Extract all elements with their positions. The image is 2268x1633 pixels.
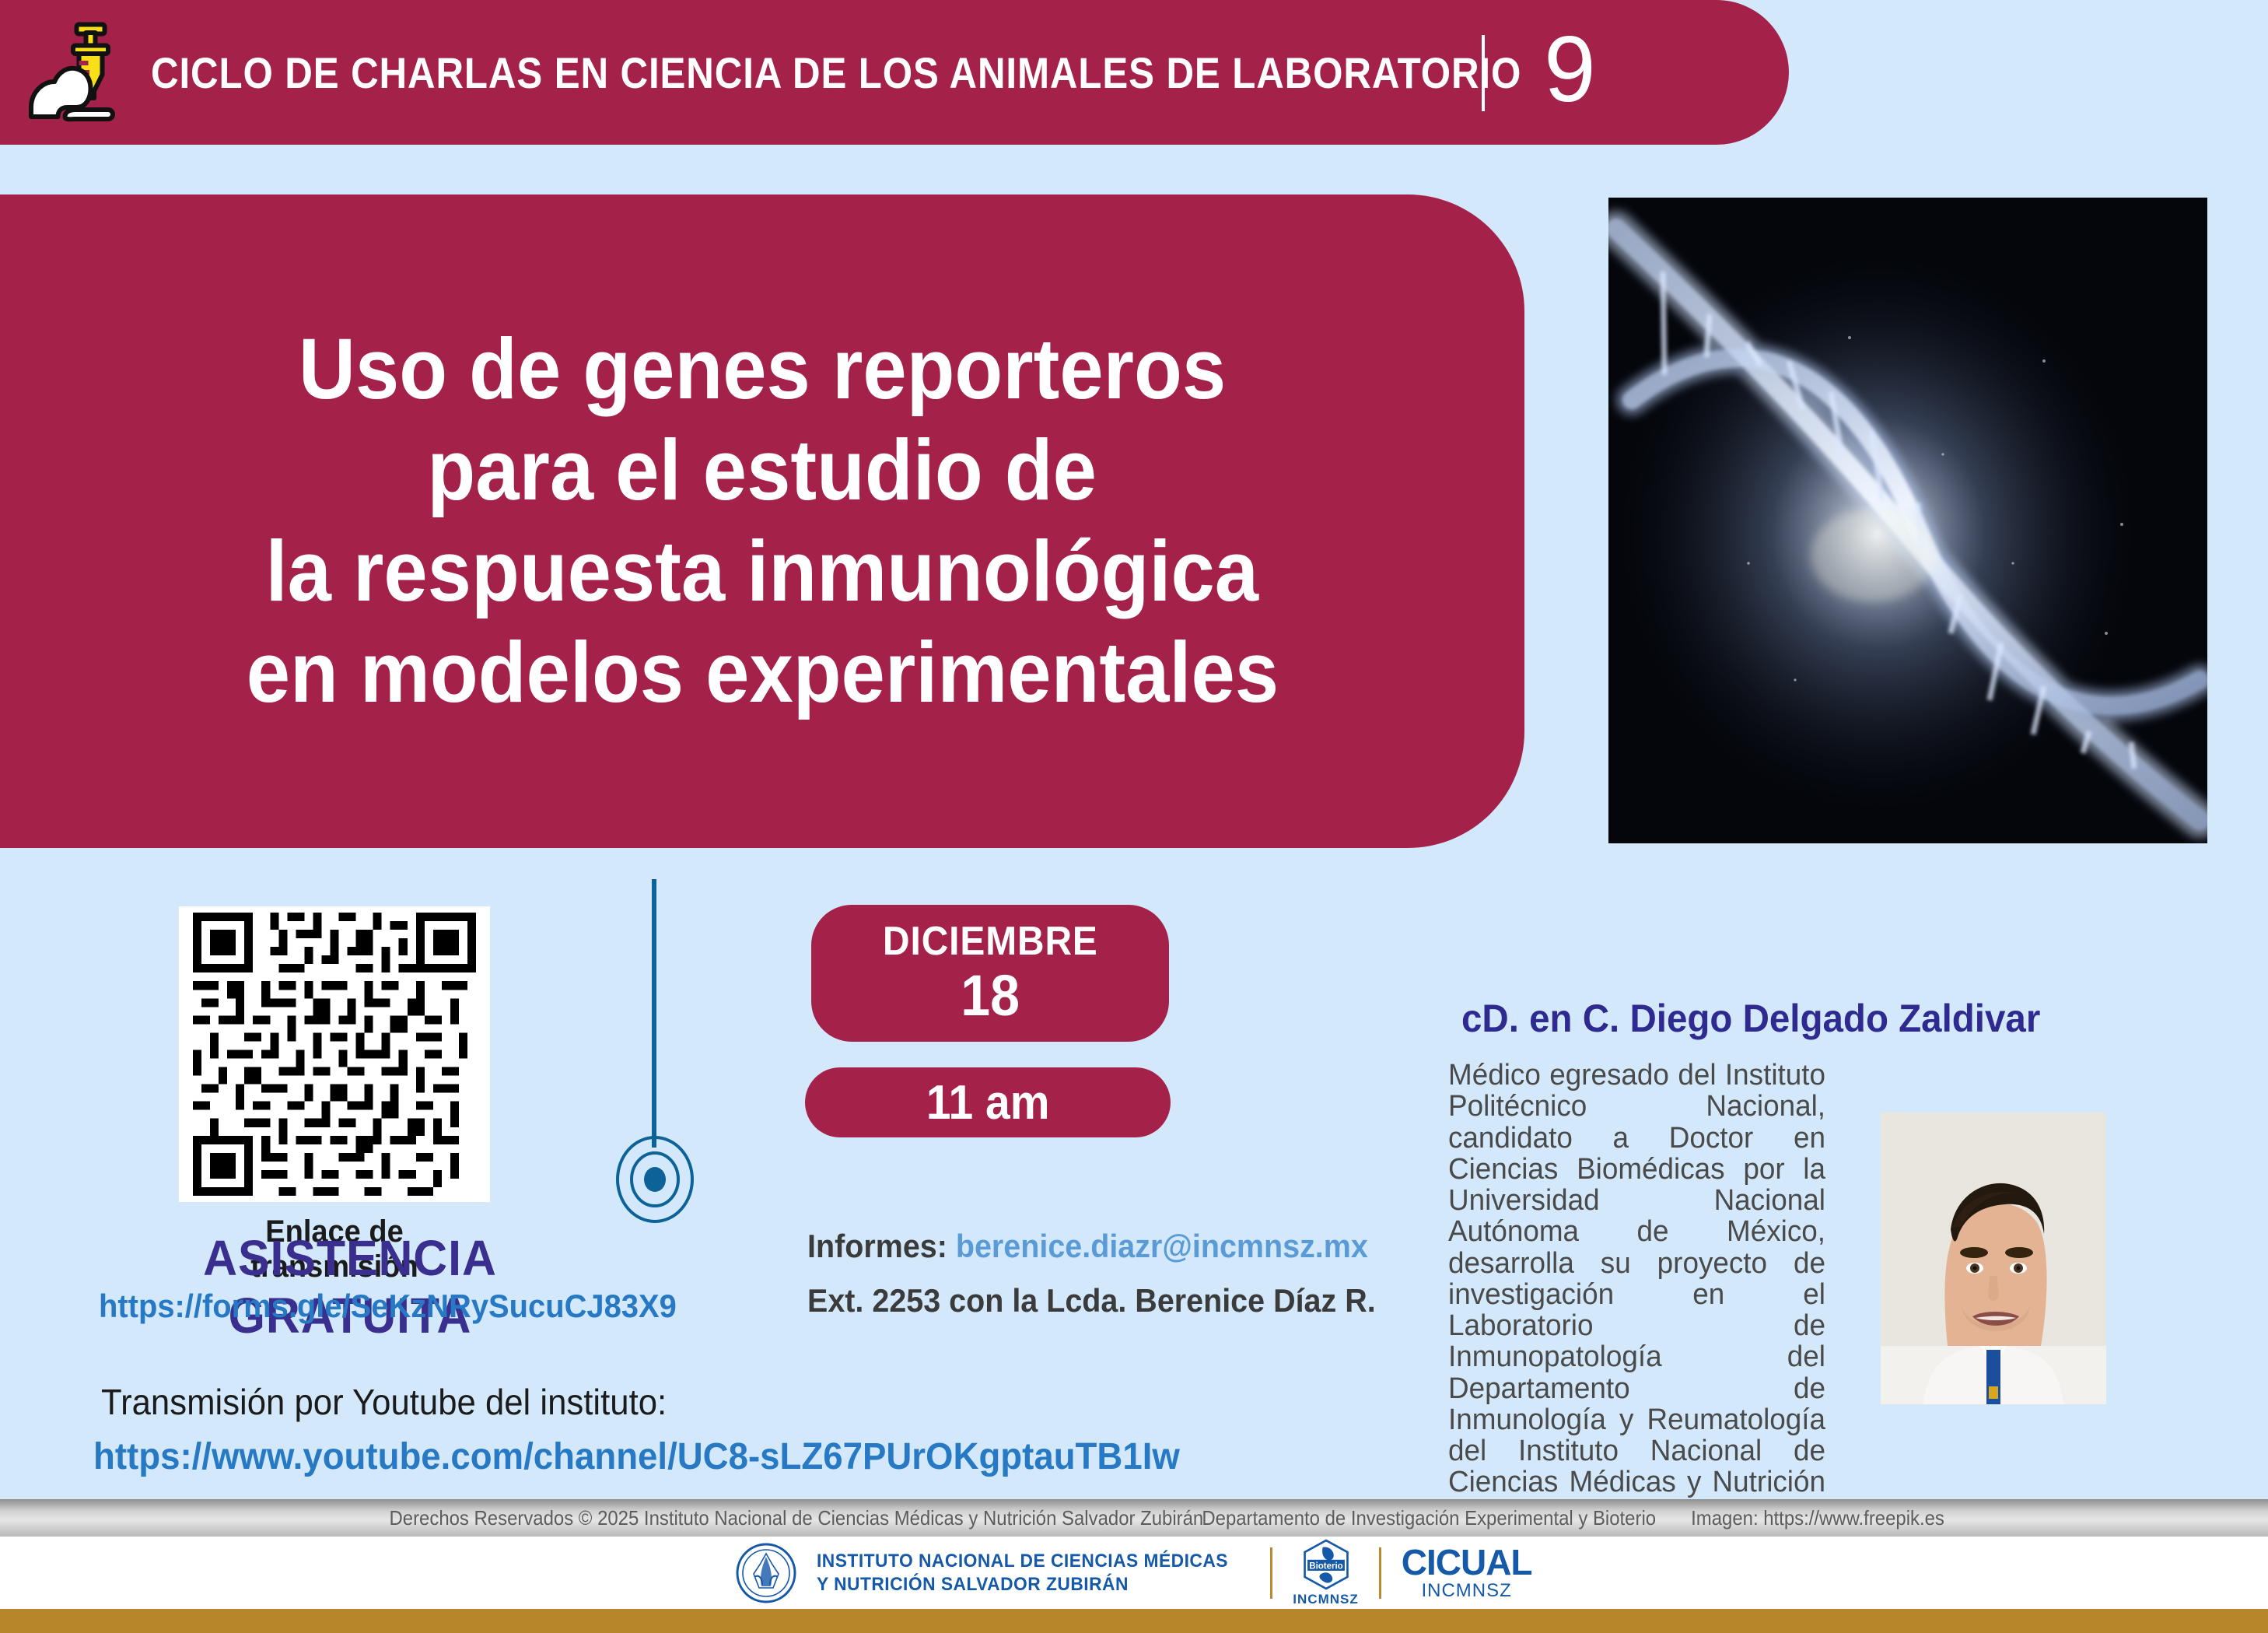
institute-name-line2: Y NUTRICIÓN SALVADOR ZUBIRÁN [817, 1573, 1228, 1596]
episode-number: 9 [1544, 11, 1596, 128]
qr-code-image[interactable] [179, 906, 490, 1202]
informes-label: Informes: [807, 1228, 947, 1264]
logo-divider-2 [1379, 1547, 1381, 1599]
footer-copyright: Derechos Reservados © 2025 Instituto Nac… [390, 1506, 1204, 1530]
bioterio-logo: Bioterio INCMNSZ [1293, 1539, 1358, 1607]
bioterio-label: Bioterio [1309, 1561, 1342, 1571]
contact-email[interactable]: berenice.diazr@incmnsz.mx [956, 1228, 1368, 1264]
speaker-portrait-photo [1881, 1113, 2106, 1404]
speaker-name: cD. en C. Diego Delgado Zaldivar [1461, 996, 2023, 1041]
footer-credits-bar: Derechos Reservados © 2025 Instituto Nac… [0, 1499, 2268, 1537]
title-line-2: para el estudio de [428, 420, 1097, 521]
institute-name-line1: INSTITUTO NACIONAL DE CIENCIAS MÉDICAS [817, 1550, 1228, 1573]
footer-image-credit: Imagen: https://www.freepik.es [1691, 1506, 1944, 1530]
title-line-3: la respuesta inmunológica [266, 521, 1259, 622]
free-attendance-headline: ASISTENCIA GRATUITA [114, 1229, 586, 1344]
event-date-badge: DICIEMBRE 18 [811, 905, 1169, 1042]
contact-extension: Ext. 2253 con la Lcda. Berenice Díaz R. [807, 1282, 1376, 1319]
incmnsz-seal-icon [736, 1543, 796, 1603]
speaker-bio: Médico egresado del Instituto Politécnic… [1448, 1060, 1825, 1530]
contact-info-row: Informes: berenice.diazr@incmnsz.mx [807, 1228, 1368, 1265]
gold-accent-bar [0, 1609, 2268, 1633]
location-pin-icon [614, 1136, 695, 1223]
cicual-sub-label: INCMNSZ [1421, 1580, 1511, 1602]
cicual-logo: CICUAL INCMNSZ [1402, 1544, 1532, 1602]
header-divider [1482, 35, 1485, 111]
logo-divider-1 [1270, 1547, 1272, 1599]
bioterio-sub-label: INCMNSZ [1293, 1592, 1358, 1607]
connector-line [652, 879, 656, 1148]
institution-logo-strip: INSTITUTO NACIONAL DE CIENCIAS MÉDICAS Y… [0, 1537, 2268, 1609]
cicual-main-label: CICUAL [1402, 1544, 1532, 1580]
talk-title-panel: Uso de genes reporteros para el estudio … [0, 194, 1524, 848]
registration-form-link[interactable]: https://forms.gle/SeKzNRySucuCJ83X9 [99, 1288, 601, 1325]
series-title: CICLO DE CHARLAS EN CIENCIA DE LOS ANIMA… [151, 47, 1521, 98]
event-month: DICIEMBRE [883, 920, 1098, 963]
footer-department: Departamento de Investigación Experiment… [1202, 1506, 1656, 1530]
qr-block: Enlace de transmisión [179, 906, 490, 1284]
event-day: 18 [961, 965, 1020, 1026]
title-line-4: en modelos experimentales [246, 622, 1278, 724]
title-line-1: Uso de genes reporteros [299, 319, 1226, 420]
mouse-syringe-icon [12, 14, 129, 131]
youtube-channel-link[interactable]: https://www.youtube.com/channel/UC8-sLZ6… [93, 1435, 1180, 1478]
broadcast-label: Transmisión por Youtube del instituto: [101, 1381, 667, 1423]
header-bar: CICLO DE CHARLAS EN CIENCIA DE LOS ANIMA… [0, 0, 1789, 145]
dna-double-helix-image [1608, 198, 2207, 843]
event-time-badge: 11 am [805, 1067, 1171, 1137]
event-time: 11 am [926, 1075, 1050, 1130]
